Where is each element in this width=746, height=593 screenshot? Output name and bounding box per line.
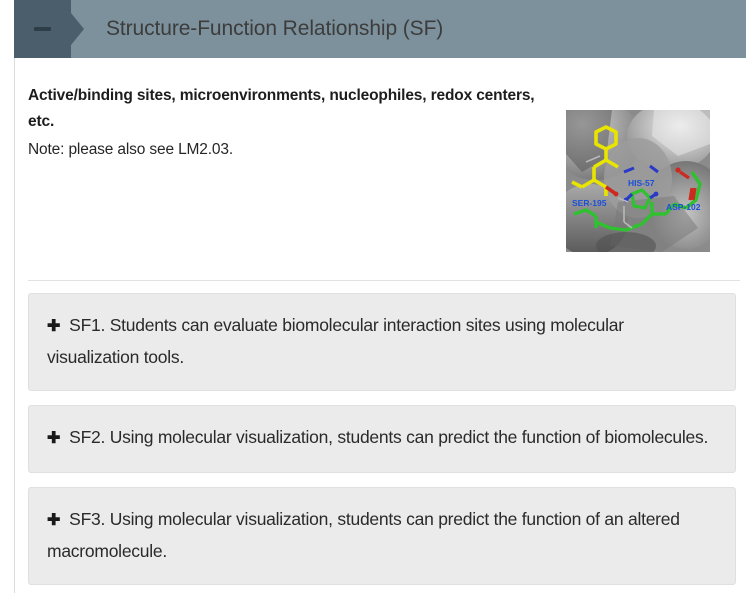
accordion-item-sf2-row: ✚SF2. Using molecular visualization, stu…: [47, 422, 717, 454]
learning-outcome-list: ✚SF1. Students can evaluate biomolecular…: [28, 293, 736, 593]
intro-heading: Active/binding sites, microenvironments,…: [28, 83, 548, 135]
accordion-item-sf3-label: SF3. Using molecular visualization, stud…: [47, 509, 680, 561]
minus-icon: [34, 27, 51, 31]
accordion-item-sf3[interactable]: ✚SF3. Using molecular visualization, stu…: [28, 487, 736, 585]
label-asp102: ASP-102: [666, 202, 701, 212]
accordion-item-sf2[interactable]: ✚SF2. Using molecular visualization, stu…: [28, 405, 736, 473]
plus-icon[interactable]: ✚: [47, 318, 60, 335]
intro-block: Active/binding sites, microenvironments,…: [28, 83, 548, 162]
accordion-item-sf1-label: SF1. Students can evaluate biomolecular …: [47, 315, 624, 367]
molecular-visualization-image: HIS-57 SER-195 ASP-102: [566, 110, 710, 252]
section-header-structure-function[interactable]: Structure-Function Relationship (SF): [14, 0, 746, 58]
section-body: Active/binding sites, microenvironments,…: [15, 58, 746, 593]
accordion-item-sf1[interactable]: ✚SF1. Students can evaluate biomolecular…: [28, 293, 736, 391]
accordion-item-sf1-row: ✚SF1. Students can evaluate biomolecular…: [47, 310, 717, 372]
content-divider: [28, 280, 740, 281]
label-his57: HIS-57: [628, 178, 655, 188]
accordion-item-sf2-label: SF2. Using molecular visualization, stud…: [69, 427, 708, 447]
plus-icon[interactable]: ✚: [47, 430, 60, 447]
intro-note: Note: please also see LM2.03.: [28, 138, 548, 162]
page-title: Structure-Function Relationship (SF): [106, 17, 443, 41]
collapse-toggle-button[interactable]: [14, 0, 71, 58]
plus-icon[interactable]: ✚: [47, 512, 60, 529]
accordion-item-sf3-row: ✚SF3. Using molecular visualization, stu…: [47, 504, 717, 566]
page-root: Structure-Function Relationship (SF) Act…: [0, 0, 746, 593]
label-ser195: SER-195: [572, 198, 607, 208]
